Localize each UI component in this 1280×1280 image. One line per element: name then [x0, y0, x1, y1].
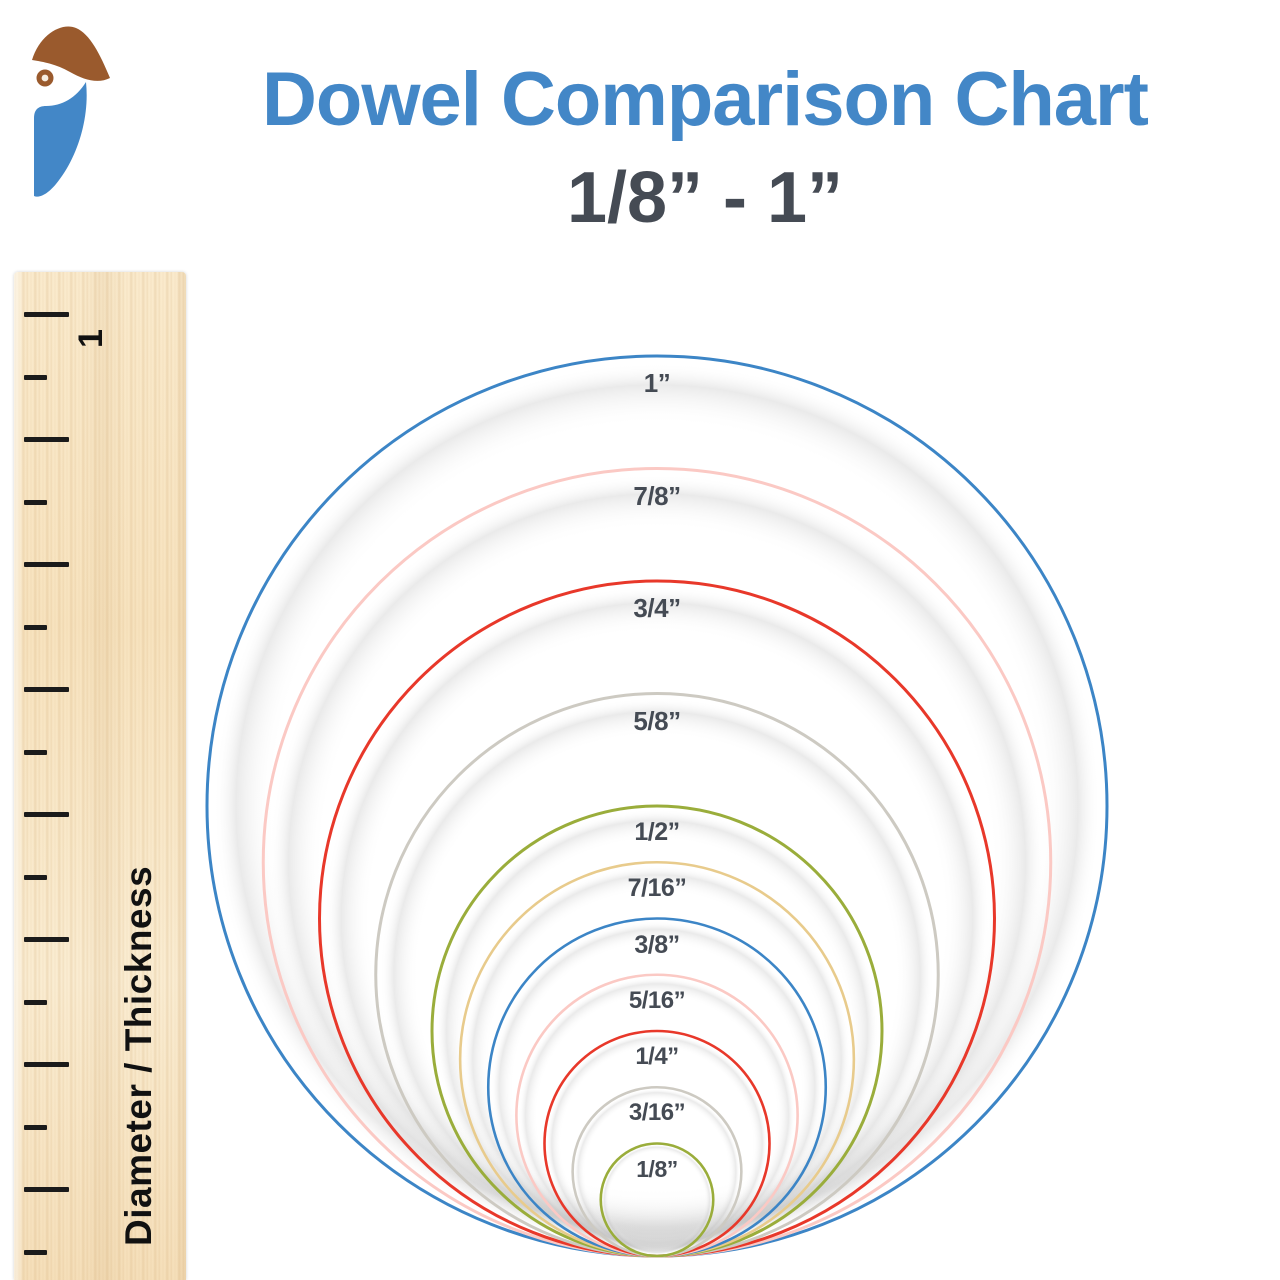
dowel-size-label: 1/2”	[634, 818, 679, 847]
dowel-size-label: 5/8”	[633, 706, 680, 737]
nested-dowel-circles	[0, 0, 1280, 1280]
dowel-size-label: 7/8”	[633, 481, 680, 512]
dowel-size-label: 1/4”	[635, 1043, 678, 1071]
dowel-size-label: 3/16”	[629, 1099, 685, 1127]
dowel-size-label: 3/8”	[634, 931, 679, 960]
dowel-size-label: 1/8”	[636, 1156, 677, 1183]
dowel-size-label: 3/4”	[633, 593, 680, 624]
dowel-size-label: 1”	[644, 368, 670, 399]
dowel-size-label: 5/16”	[629, 987, 685, 1015]
dowel-size-label: 7/16”	[628, 874, 687, 903]
dowel-comparison-chart-page: Dowel Comparison Chart 1/8” - 1” 1 Diame…	[0, 0, 1280, 1280]
